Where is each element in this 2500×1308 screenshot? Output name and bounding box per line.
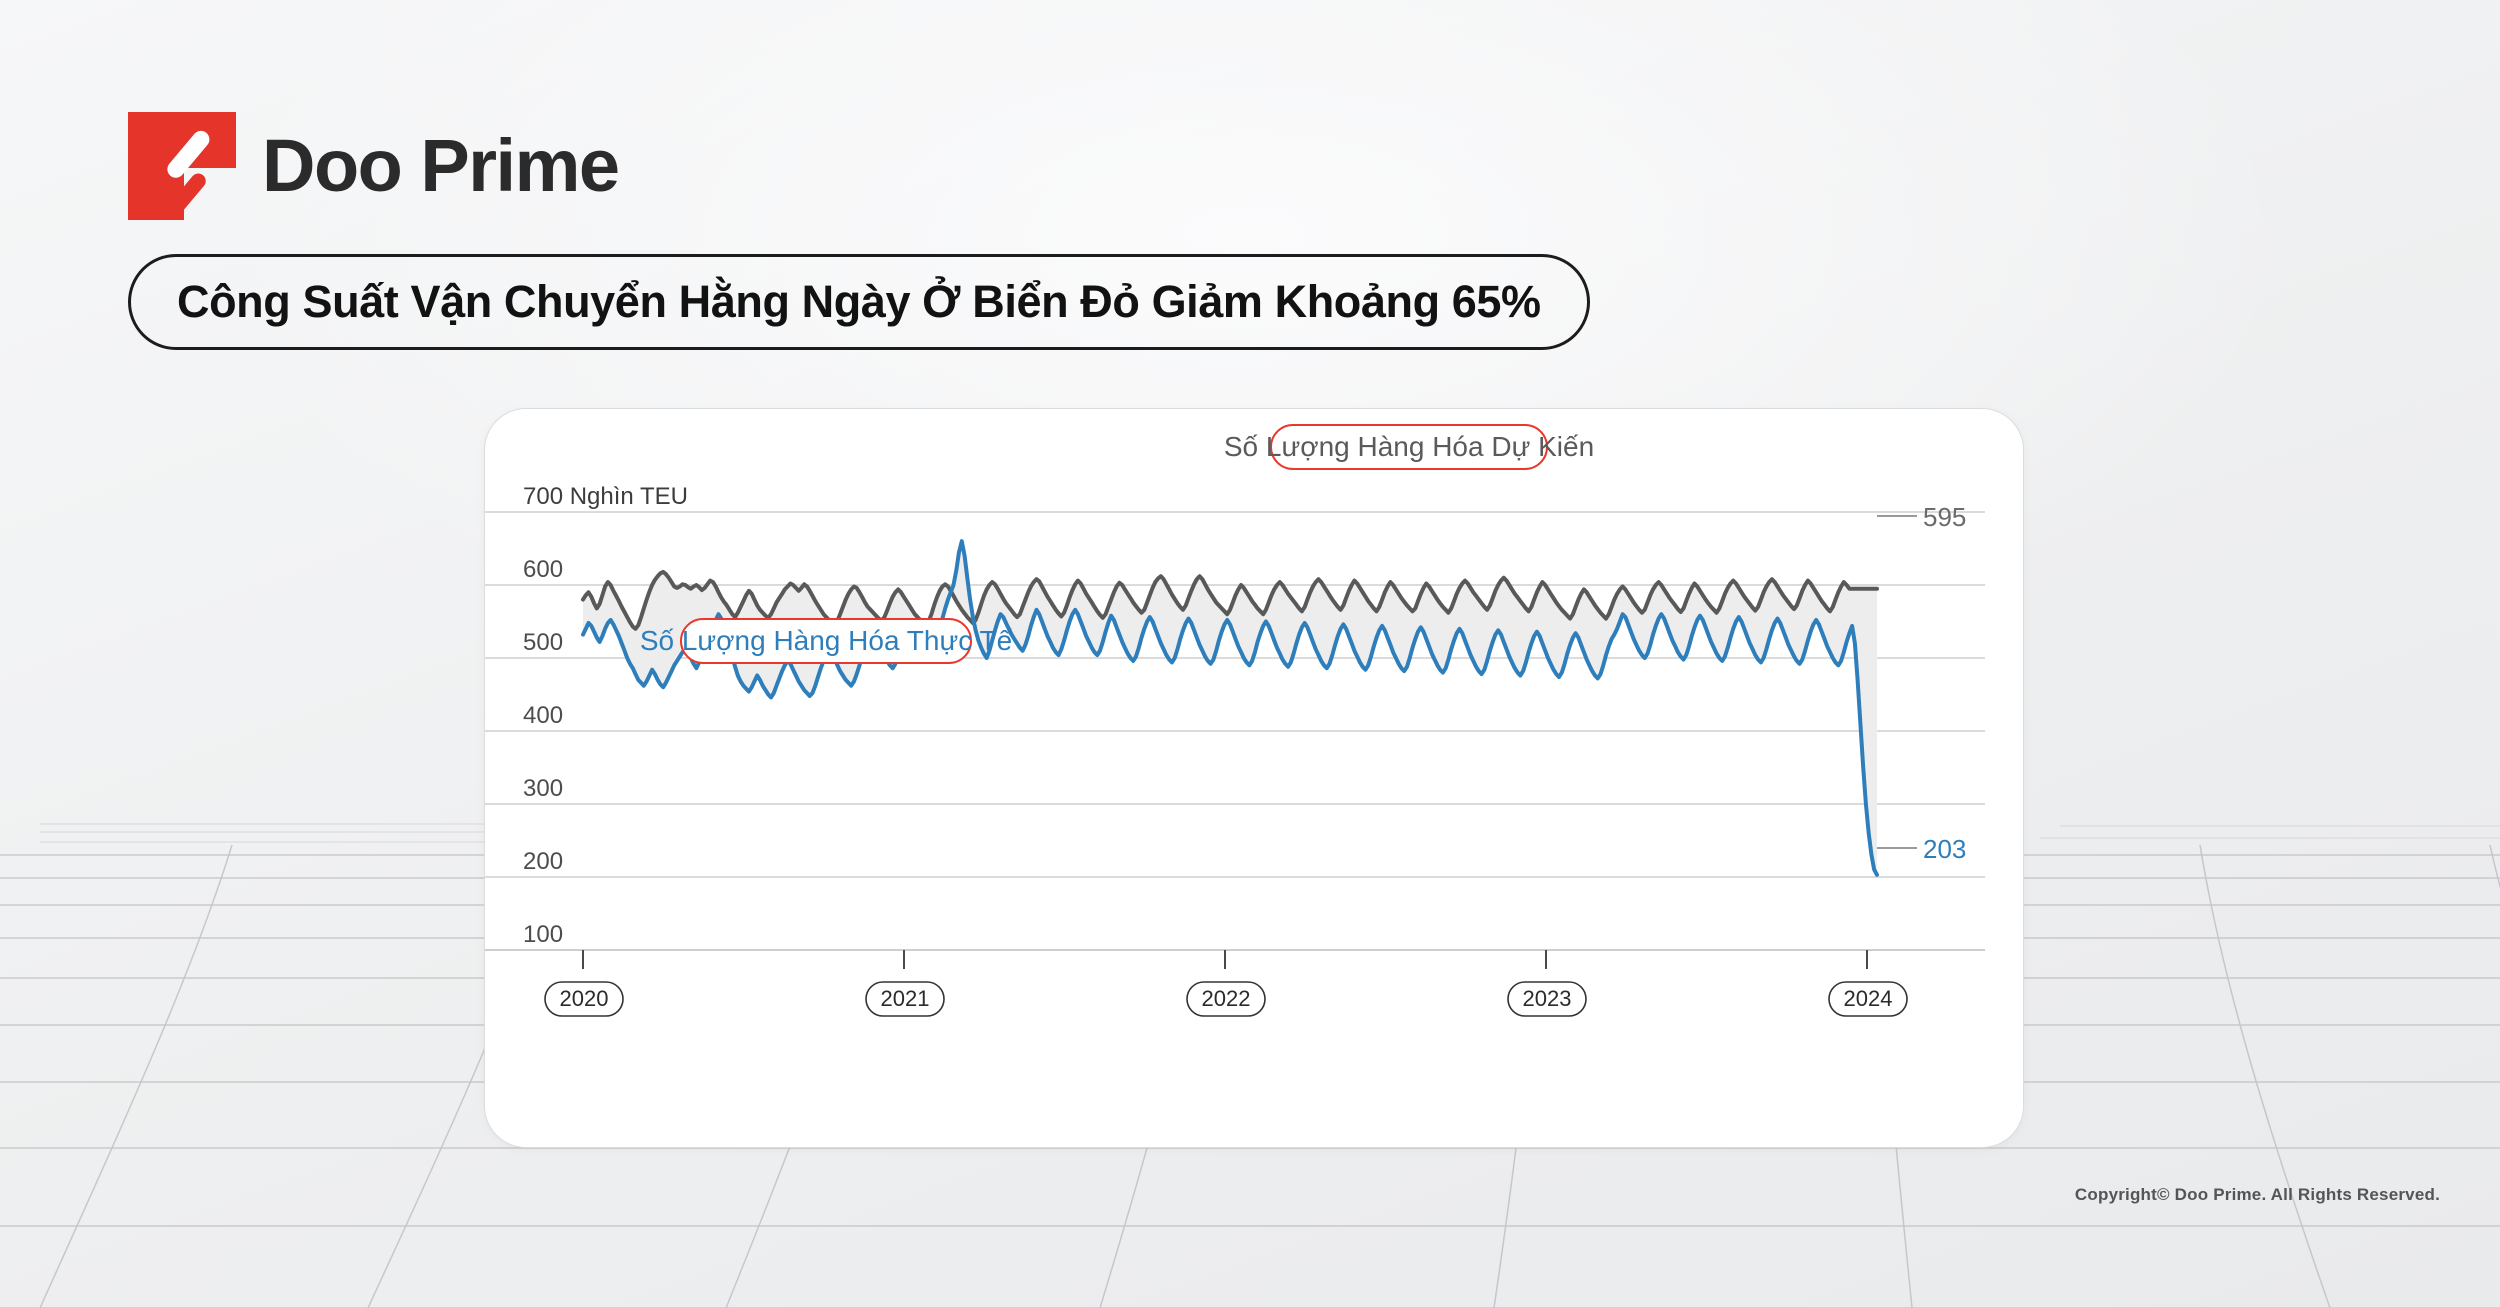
- y-tick-600: 600: [523, 556, 563, 583]
- y-unit-label: 700 Nghìn TEU: [523, 483, 688, 510]
- headline-pill: Công Suất Vận Chuyển Hằng Ngày Ở Biển Đỏ…: [128, 254, 1590, 350]
- year-label-2021: 2021: [881, 986, 930, 1011]
- series-band-fill: [583, 541, 1877, 875]
- year-pill-2022[interactable]: 2022: [1187, 982, 1265, 1016]
- doo-prime-mark-icon: [128, 112, 236, 220]
- gridlines: [485, 512, 1985, 950]
- y-tick-400: 400: [523, 702, 563, 729]
- actual-end-value: 203: [1923, 834, 1966, 864]
- brand-name: Doo Prime: [262, 129, 619, 203]
- y-tick-300: 300: [523, 775, 563, 802]
- line-chart: 700 Nghìn TEU 600 500 400 300 200 100 59…: [485, 409, 2025, 1149]
- headline-text: Công Suất Vận Chuyển Hằng Ngày Ở Biển Đỏ…: [177, 276, 1541, 328]
- year-label-2024: 2024: [1844, 986, 1893, 1011]
- year-pill-2020[interactable]: 2020: [545, 982, 623, 1016]
- footer-copyright: Copyright© Doo Prime. All Rights Reserve…: [2075, 1185, 2440, 1205]
- series-actual-line: [583, 541, 1877, 875]
- expected-callout-label: Số Lượng Hàng Hóa Dự Kiến: [1224, 431, 1594, 462]
- year-pill-2021[interactable]: 2021: [866, 982, 944, 1016]
- year-label-2022: 2022: [1202, 986, 1251, 1011]
- brand-header: Doo Prime: [128, 112, 619, 220]
- expected-end-value: 595: [1923, 502, 1966, 532]
- actual-callout: Số Lượng Hàng Hóa Thực Tế: [640, 619, 1013, 663]
- year-pill-2023[interactable]: 2023: [1508, 982, 1586, 1016]
- logo-row: Doo Prime: [128, 112, 619, 220]
- chart-card: 700 Nghìn TEU 600 500 400 300 200 100 59…: [484, 408, 2024, 1148]
- y-tick-500: 500: [523, 629, 563, 656]
- y-tick-200: 200: [523, 848, 563, 875]
- x-axis-ticks: [583, 950, 1867, 969]
- y-tick-100: 100: [523, 921, 563, 948]
- expected-callout: Số Lượng Hàng Hóa Dự Kiến: [1224, 425, 1594, 469]
- year-pill-2024[interactable]: 2024: [1829, 982, 1907, 1016]
- year-label-2023: 2023: [1523, 986, 1572, 1011]
- actual-callout-label: Số Lượng Hàng Hóa Thực Tế: [640, 625, 1013, 656]
- year-label-2020: 2020: [560, 986, 609, 1011]
